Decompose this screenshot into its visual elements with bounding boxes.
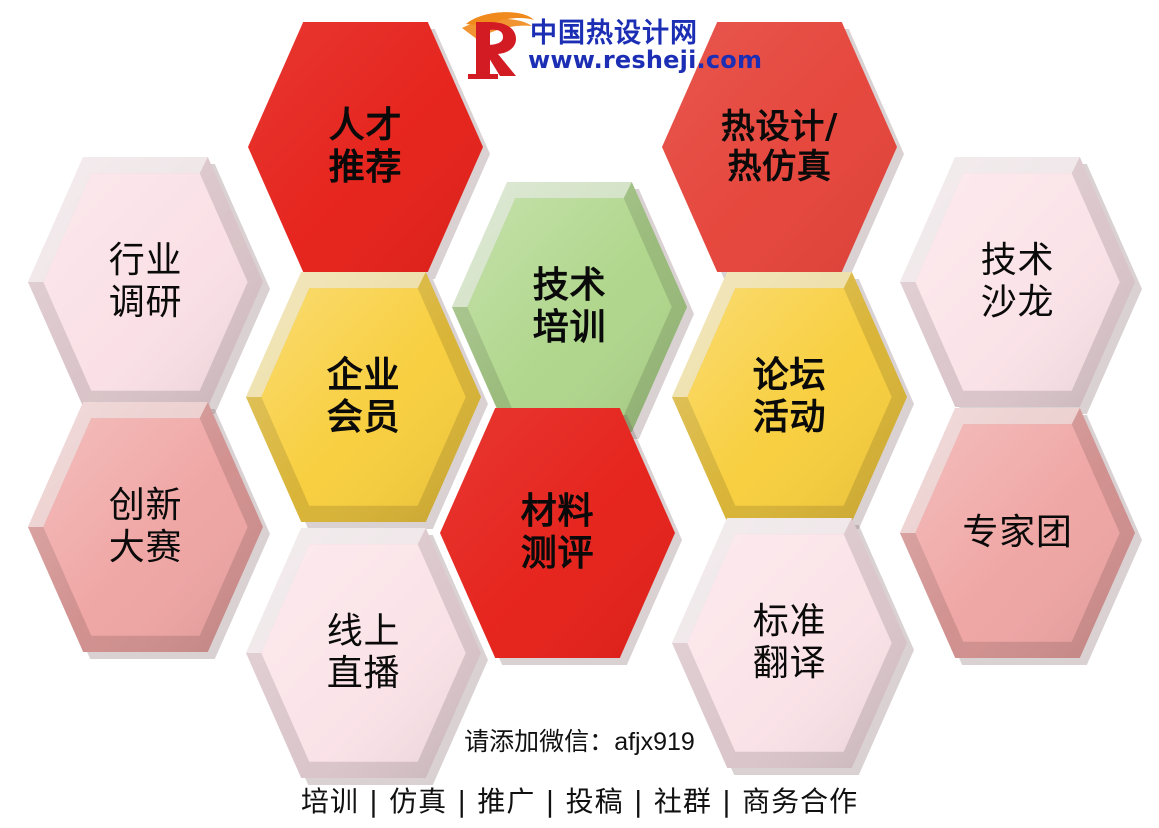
services-tagline: 培训 | 仿真 | 推广 | 投稿 | 社群 | 商务合作	[0, 780, 1159, 820]
hex-talent-recommendation[interactable]: 人才推荐	[248, 22, 483, 272]
r-swoosh-logo-icon	[460, 12, 538, 80]
hex-shape-innovation-contest	[28, 402, 263, 652]
wechat-contact-line: 请添加微信：afjx919	[0, 722, 1159, 758]
hex-shape-tech-training	[452, 182, 687, 432]
wechat-prompt-label: 请添加微信：	[464, 727, 614, 756]
hex-shape-expert-team	[900, 408, 1135, 658]
logo-site-name: 中国热设计网	[530, 11, 698, 50]
hex-shape-tech-salon	[900, 157, 1135, 407]
infographic-canvas: 人才推荐热设计/热仿真行业调研技术培训技术沙龙企业会员论坛活动创新大赛材料测评专…	[0, 0, 1159, 828]
hex-industry-research[interactable]: 行业调研	[28, 157, 263, 407]
wechat-id-value: afjx919	[614, 728, 695, 756]
hex-tech-training[interactable]: 技术培训	[452, 182, 687, 432]
hex-shape-industry-research	[28, 157, 263, 407]
hex-shape-forum-events	[672, 272, 907, 522]
site-logo: 中国热设计网 www.resheji.com	[460, 8, 692, 86]
hex-forum-events[interactable]: 论坛活动	[672, 272, 907, 522]
logo-site-url: www.resheji.com	[528, 46, 762, 74]
hex-shape-talent-recommendation	[248, 22, 483, 272]
hex-innovation-contest[interactable]: 创新大赛	[28, 402, 263, 652]
hex-tech-salon[interactable]: 技术沙龙	[900, 157, 1135, 407]
hex-expert-team[interactable]: 专家团	[900, 408, 1135, 658]
